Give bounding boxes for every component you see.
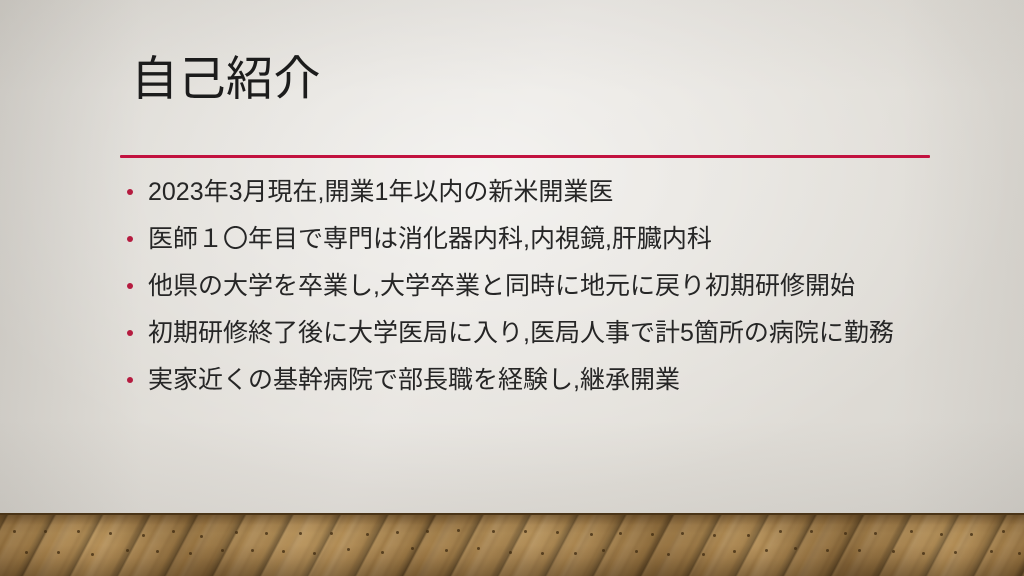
list-item: 初期研修終了後に大学医局に入り,医局人事で計5箇所の病院に勤務 [120, 316, 950, 363]
floor-nail [810, 530, 813, 533]
list-item: 医師１〇年目で専門は消化器内科,内視鏡,肝臓内科 [120, 222, 950, 269]
floor-nail [602, 549, 605, 552]
floor-nail [142, 534, 145, 537]
floor-nail [109, 532, 112, 535]
floor-nail [44, 530, 47, 533]
bullet-list: 2023年3月現在,開業1年以内の新米開業医 医師１〇年目で専門は消化器内科,内… [120, 175, 950, 410]
list-item: 実家近くの基幹病院で部長職を経験し,継承開業 [120, 363, 950, 410]
floor-nail [426, 530, 429, 533]
bullet-dot-icon [120, 363, 148, 397]
floor-nail [13, 530, 16, 533]
floor-nail [156, 550, 159, 553]
floor-nail [200, 535, 203, 538]
list-item: 他県の大学を卒業し,大学卒業と同時に地元に戻り初期研修開始 [120, 269, 950, 316]
bullet-dot-icon [120, 175, 148, 209]
floor-nail [509, 551, 512, 554]
bullet-text: 医師１〇年目で専門は消化器内科,内視鏡,肝臓内科 [148, 222, 950, 256]
floor-nail [347, 548, 350, 551]
floor-nail [733, 550, 736, 553]
floor-nail [635, 550, 638, 553]
floor-nail [445, 549, 448, 552]
bullet-text: 2023年3月現在,開業1年以内の新米開業医 [148, 175, 950, 209]
floor-nail [366, 533, 369, 536]
floor-nail [590, 533, 593, 536]
floor-nail [713, 534, 716, 537]
title-divider-line [120, 155, 930, 158]
floor-nail [990, 550, 993, 553]
slide-title: 自己紹介 [131, 52, 321, 106]
floor-nail [702, 553, 705, 556]
presentation-slide: 自己紹介 2023年3月現在,開業1年以内の新米開業医 医師１〇年目で専門は消化… [0, 0, 1024, 576]
bullet-dot-icon [120, 316, 148, 350]
floor-nail [970, 533, 973, 536]
bullet-dot-icon [120, 269, 148, 303]
bullet-text: 他県の大学を卒業し,大学卒業と同時に地元に戻り初期研修開始 [148, 269, 950, 303]
floor-nail [940, 533, 943, 536]
floor-nail [874, 532, 877, 535]
list-item: 2023年3月現在,開業1年以内の新米開業医 [120, 175, 950, 222]
floor-nail [667, 553, 670, 556]
wood-floor-decoration [0, 513, 1024, 576]
floor-nail [172, 530, 175, 533]
bullet-text: 初期研修終了後に大学医局に入り,医局人事で計5箇所の病院に勤務 [148, 316, 950, 350]
floor-nail [282, 550, 285, 553]
bullet-text: 実家近くの基幹病院で部長職を経験し,継承開業 [148, 363, 950, 397]
floor-wood-grain [0, 513, 1024, 576]
bullet-dot-icon [120, 222, 148, 256]
floor-nail [299, 532, 302, 535]
floor-nail [396, 531, 399, 534]
floor-nail [651, 533, 654, 536]
floor-nail [826, 549, 829, 552]
floor-nail [265, 532, 268, 535]
floor-nail [574, 552, 577, 555]
floor-nail [765, 549, 768, 552]
floor-nail [189, 552, 192, 555]
